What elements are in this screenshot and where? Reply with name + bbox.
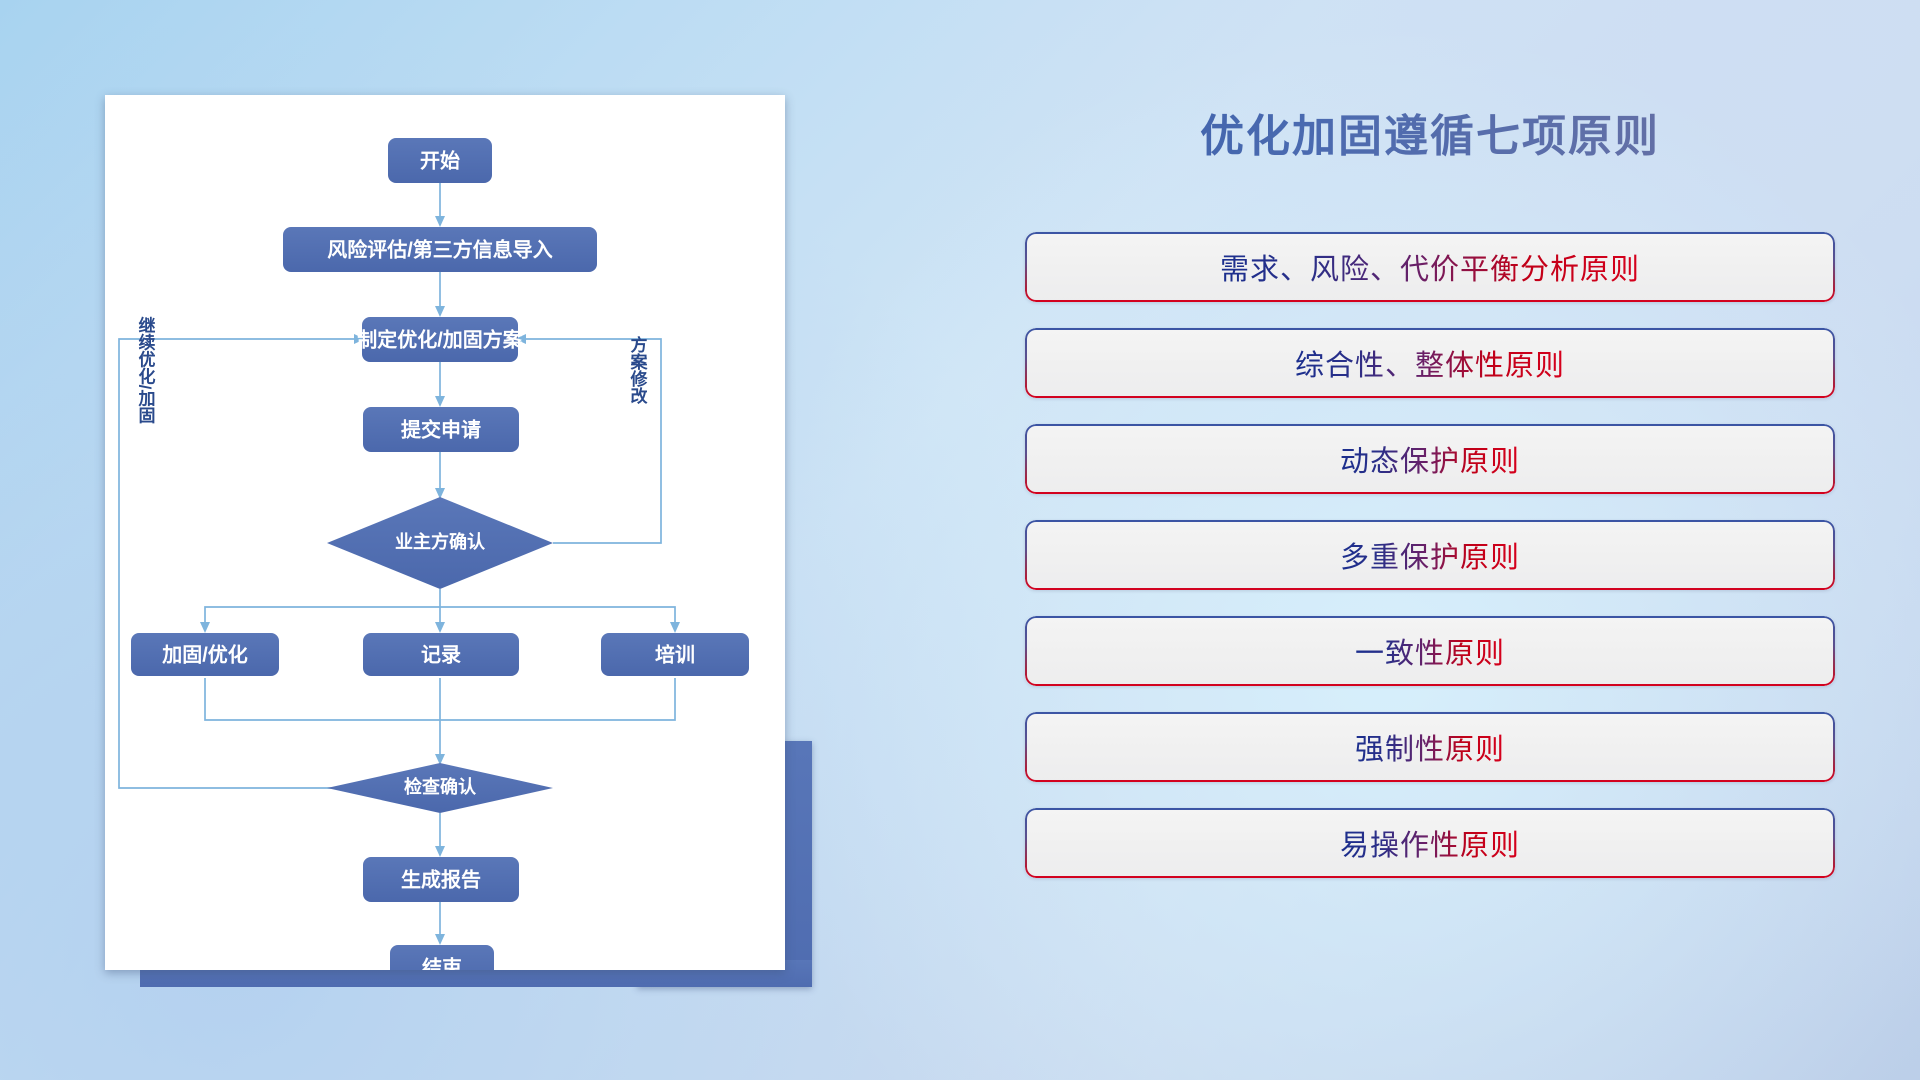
principle-label: 综合性、整体性原则 — [1295, 342, 1565, 384]
flow-node-record[interactable]: 记录 — [363, 633, 519, 676]
flow-node-label: 风险评估/第三方信息导入 — [327, 237, 553, 261]
principle-label: 多重保护原则 — [1340, 534, 1520, 576]
principle-item-1[interactable]: 需求、风险、代价平衡分析原则 — [1025, 232, 1835, 302]
principle-label: 动态保护原则 — [1340, 438, 1520, 480]
flow-node-label: 制定优化/加固方案 — [357, 327, 524, 351]
flow-node-reinforce[interactable]: 加固/优化 — [131, 633, 279, 676]
flow-edge-label-continue: 继续优化/加固 — [136, 316, 157, 425]
flow-node-risk-assessment[interactable]: 风险评估/第三方信息导入 — [283, 227, 597, 272]
flow-node-label: 检查确认 — [404, 776, 477, 797]
flow-node-start[interactable]: 开始 — [388, 138, 492, 183]
principles-title: 优化加固遵循七项原则 — [1010, 100, 1850, 164]
principle-label: 需求、风险、代价平衡分析原则 — [1220, 246, 1640, 288]
principle-label: 易操作性原则 — [1340, 822, 1520, 864]
flow-node-label: 业主方确认 — [395, 531, 486, 552]
flow-node-label: 记录 — [421, 643, 461, 666]
flow-node-label: 加固/优化 — [161, 642, 248, 666]
flow-node-plan[interactable]: 制定优化/加固方案 — [357, 317, 524, 362]
flow-node-end[interactable]: 结束 — [390, 945, 494, 970]
flow-node-label: 培训 — [655, 642, 695, 666]
principle-label: 强制性原则 — [1355, 726, 1505, 768]
flowchart-diagram: 开始 风险评估/第三方信息导入 制定优化/加固方案 提交申请 业主方确认 加固/… — [105, 95, 785, 970]
principles-panel: 优化加固遵循七项原则 需求、风险、代价平衡分析原则 综合性、整体性原则 动态保护… — [1010, 70, 1850, 1020]
principle-item-7[interactable]: 易操作性原则 — [1025, 808, 1835, 878]
principle-item-6[interactable]: 强制性原则 — [1025, 712, 1835, 782]
flow-node-label: 开始 — [420, 148, 460, 172]
principle-item-2[interactable]: 综合性、整体性原则 — [1025, 328, 1835, 398]
flow-node-check-confirm[interactable]: 检查确认 — [327, 763, 553, 813]
flow-edge-label-revise: 方案修改 — [628, 335, 649, 405]
flow-node-label: 提交申请 — [401, 417, 481, 441]
principle-item-5[interactable]: 一致性原则 — [1025, 616, 1835, 686]
flow-node-label: 结束 — [422, 955, 463, 970]
flow-node-label: 生成报告 — [401, 867, 481, 891]
principle-item-3[interactable]: 动态保护原则 — [1025, 424, 1835, 494]
flow-node-owner-confirm[interactable]: 业主方确认 — [327, 497, 553, 589]
flow-node-submit[interactable]: 提交申请 — [363, 407, 519, 452]
principles-list: 需求、风险、代价平衡分析原则 综合性、整体性原则 动态保护原则 多重保护原则 一… — [1025, 232, 1835, 904]
principle-item-4[interactable]: 多重保护原则 — [1025, 520, 1835, 590]
principle-label: 一致性原则 — [1355, 630, 1505, 672]
flow-node-report[interactable]: 生成报告 — [363, 857, 519, 902]
flow-node-training[interactable]: 培训 — [601, 633, 749, 676]
